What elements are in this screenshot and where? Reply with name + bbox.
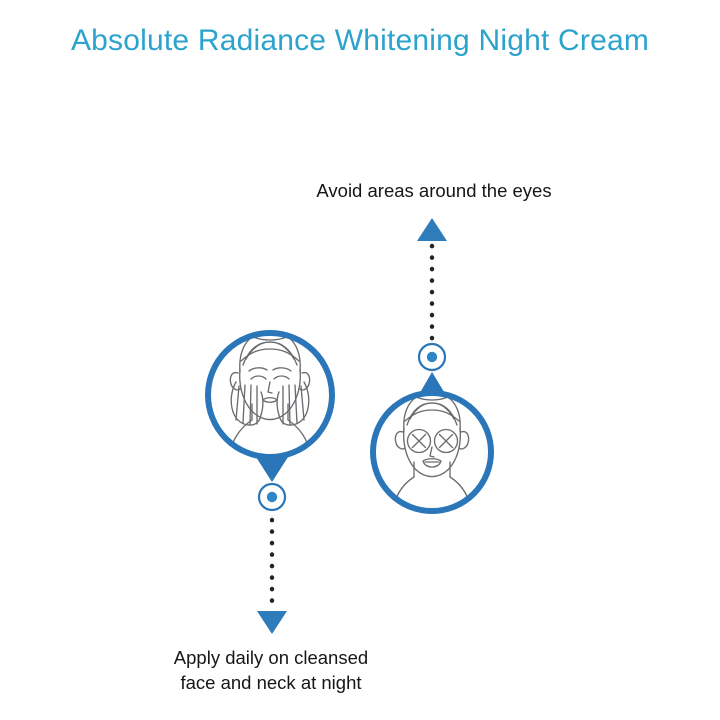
arrow-down-to-apply-caption [257, 611, 287, 634]
instruction-diagram [0, 0, 720, 720]
target-dot-marker-upper [419, 344, 445, 370]
avoid-eyes-face-icon [373, 370, 491, 514]
caption-apply-instructions: Apply daily on cleansed face and neck at… [0, 645, 720, 695]
target-dot-marker-lower [259, 484, 285, 510]
caption-avoid-eyes: Avoid areas around the eyes [0, 180, 720, 202]
infographic-canvas: Absolute Radiance Whitening Night Cream … [0, 0, 720, 720]
page-title: Absolute Radiance Whitening Night Cream [0, 24, 720, 58]
woman-applying-cream-icon [208, 306, 332, 482]
arrow-up-to-avoid-caption [417, 218, 447, 241]
